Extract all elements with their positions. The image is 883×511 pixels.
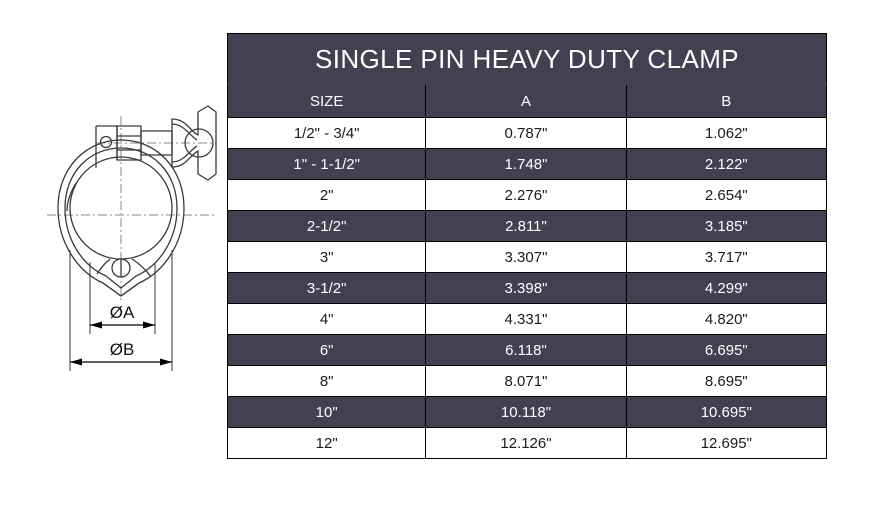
table-row: 2-1/2"2.811"3.185" <box>228 211 827 242</box>
table-row: 1" - 1-1/2"1.748"2.122" <box>228 149 827 180</box>
cell-size: 12" <box>228 428 426 459</box>
cell-size: 6" <box>228 335 426 366</box>
table-row: 10"10.118"10.695" <box>228 397 827 428</box>
table-row: 4"4.331"4.820" <box>228 304 827 335</box>
cell-size: 8" <box>228 366 426 397</box>
cell-a: 1.748" <box>426 149 626 180</box>
cell-a: 12.126" <box>426 428 626 459</box>
cell-b: 3.717" <box>626 242 826 273</box>
cell-b: 2.654" <box>626 180 826 211</box>
table-title: SINGLE PIN HEAVY DUTY CLAMP <box>228 34 827 85</box>
pivot-pin <box>97 259 151 296</box>
cell-a: 2.811" <box>426 211 626 242</box>
cell-b: 1.062" <box>626 118 826 149</box>
cell-a: 3.307" <box>426 242 626 273</box>
cell-a: 10.118" <box>426 397 626 428</box>
table-body: 1/2" - 3/4"0.787"1.062"1" - 1-1/2"1.748"… <box>228 118 827 459</box>
cell-size: 2" <box>228 180 426 211</box>
cell-b: 2.122" <box>626 149 826 180</box>
cell-size: 1/2" - 3/4" <box>228 118 426 149</box>
cell-size: 1" - 1-1/2" <box>228 149 426 180</box>
cell-b: 4.299" <box>626 273 826 304</box>
cell-b: 10.695" <box>626 397 826 428</box>
table-row: 3"3.307"3.717" <box>228 242 827 273</box>
dimension-line-inner-diameter <box>90 322 155 329</box>
dimension-line-outer-diameter <box>70 359 172 366</box>
clamp-specification-table: SINGLE PIN HEAVY DUTY CLAMP SIZE A B 1/2… <box>227 33 827 459</box>
table-row: 3-1/2"3.398"4.299" <box>228 273 827 304</box>
cell-b: 6.695" <box>626 335 826 366</box>
single-pin-clamp-diagram: ØA ØB <box>0 0 227 511</box>
cell-a: 6.118" <box>426 335 626 366</box>
cell-size: 3-1/2" <box>228 273 426 304</box>
table-row: 6"6.118"6.695" <box>228 335 827 366</box>
cell-size: 2-1/2" <box>228 211 426 242</box>
table-title-row: SINGLE PIN HEAVY DUTY CLAMP <box>228 34 827 85</box>
cell-size: 10" <box>228 397 426 428</box>
cell-a: 4.331" <box>426 304 626 335</box>
column-header-a: A <box>426 85 626 118</box>
table-row: 1/2" - 3/4"0.787"1.062" <box>228 118 827 149</box>
cell-b: 4.820" <box>626 304 826 335</box>
cell-a: 3.398" <box>426 273 626 304</box>
cell-a: 0.787" <box>426 118 626 149</box>
table-row: 8"8.071"8.695" <box>228 366 827 397</box>
table-row: 2"2.276"2.654" <box>228 180 827 211</box>
column-header-size: SIZE <box>228 85 426 118</box>
table-header-row: SIZE A B <box>228 85 827 118</box>
cell-b: 8.695" <box>626 366 826 397</box>
column-header-b: B <box>626 85 826 118</box>
cell-size: 4" <box>228 304 426 335</box>
cell-size: 3" <box>228 242 426 273</box>
cell-b: 3.185" <box>626 211 826 242</box>
dimension-label-outer-diameter: ØB <box>110 340 135 359</box>
dimension-label-inner-diameter: ØA <box>110 303 135 322</box>
cell-a: 8.071" <box>426 366 626 397</box>
cell-b: 12.695" <box>626 428 826 459</box>
cell-a: 2.276" <box>426 180 626 211</box>
clamp-drawing-panel: ØA ØB <box>0 0 227 511</box>
table-row: 12"12.126"12.695" <box>228 428 827 459</box>
